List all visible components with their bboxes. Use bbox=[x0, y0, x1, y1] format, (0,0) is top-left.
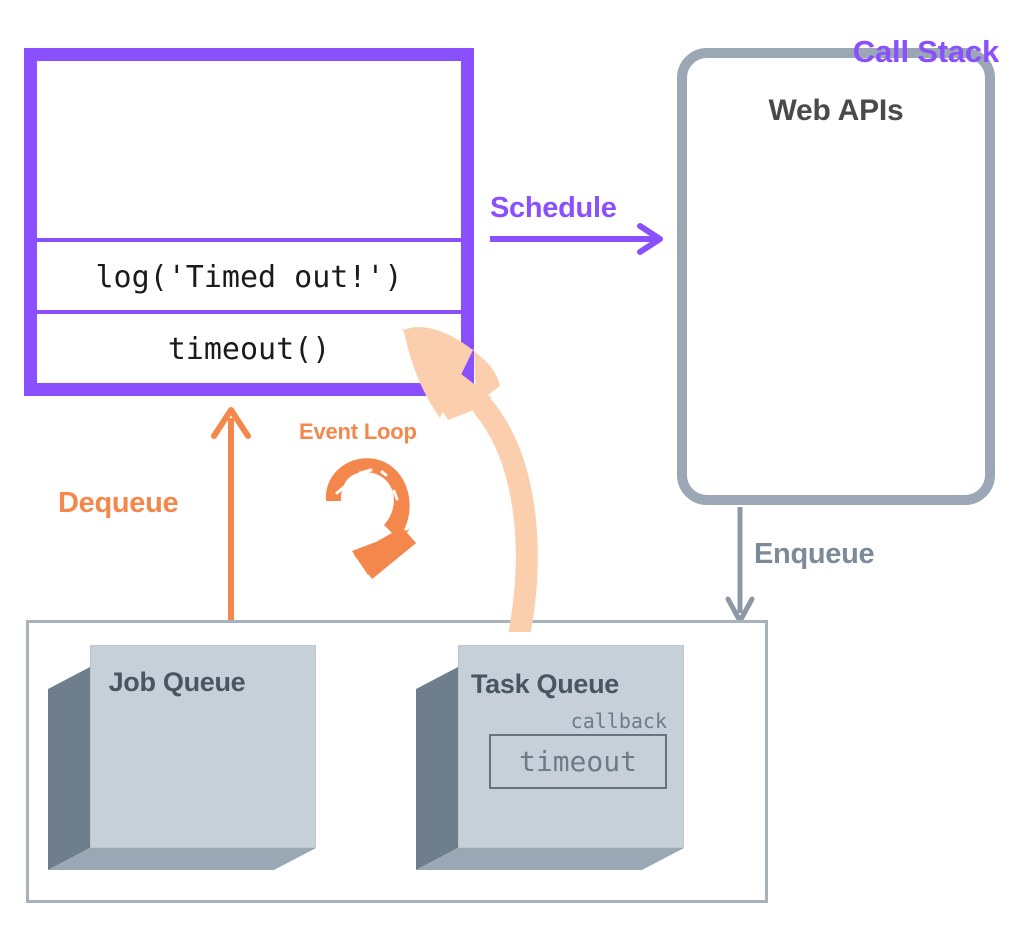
task-queue-box[interactable]: callback timeout Task Queue bbox=[416, 645, 684, 870]
task-to-call-stack-arrow-icon bbox=[388, 312, 568, 632]
job-queue-title: Job Queue bbox=[48, 667, 306, 698]
call-stack-title: Call Stack bbox=[853, 34, 999, 70]
job-queue-box[interactable]: Job Queue bbox=[48, 645, 316, 870]
schedule-arrow-icon bbox=[488, 222, 670, 256]
callback-label: callback bbox=[571, 709, 667, 733]
call-stack-frame[interactable]: log('Timed out!') bbox=[37, 238, 461, 310]
dequeue-arrow-icon bbox=[208, 404, 254, 626]
task-queue-title: Task Queue bbox=[416, 669, 674, 700]
web-apis-title: Web APIs bbox=[687, 94, 985, 128]
enqueue-label: Enqueue bbox=[754, 538, 874, 571]
dequeue-label: Dequeue bbox=[58, 487, 178, 520]
event-loop-diagram: Call Stack log('Timed out!') timeout() W… bbox=[0, 0, 1015, 944]
schedule-label: Schedule bbox=[490, 192, 617, 225]
callback-item[interactable]: timeout bbox=[489, 734, 667, 789]
web-apis-box: Web APIs bbox=[677, 48, 995, 505]
enqueue-arrow-icon bbox=[723, 505, 763, 627]
